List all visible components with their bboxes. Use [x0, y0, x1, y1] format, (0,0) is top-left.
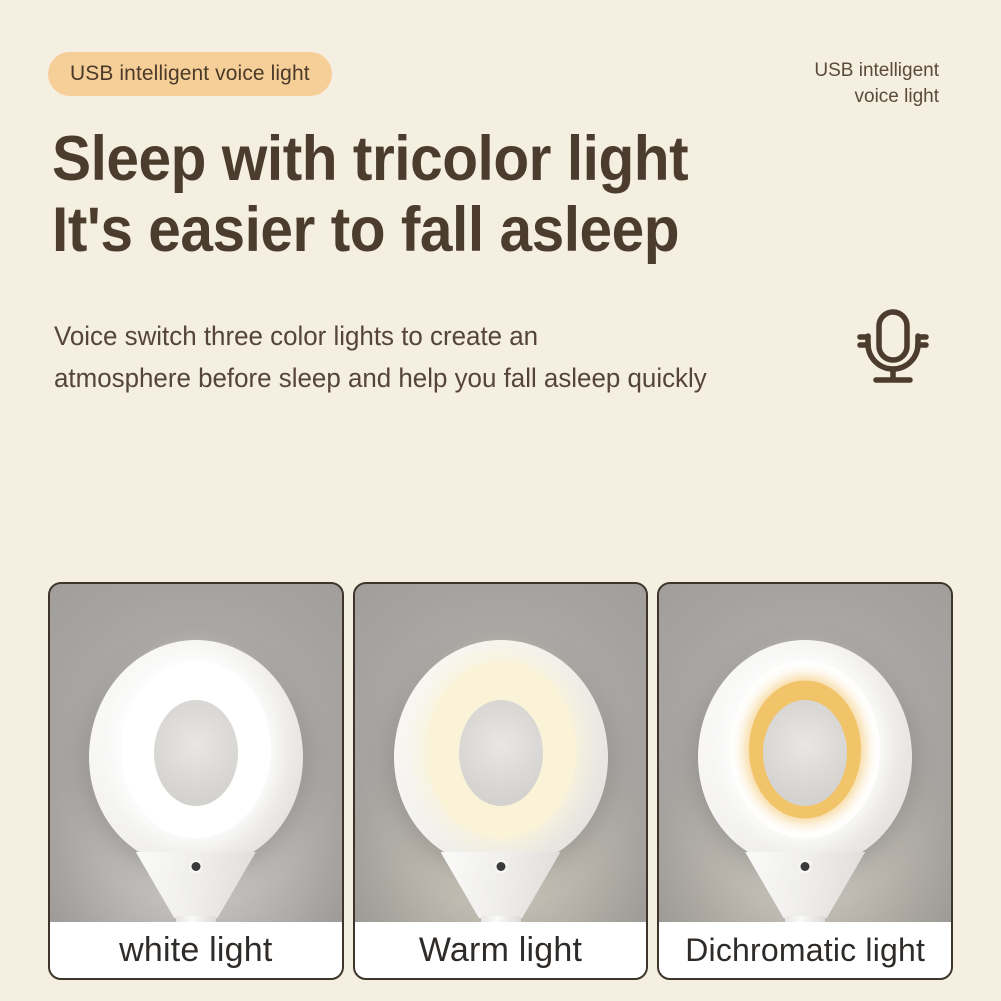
microphone-icon	[852, 306, 934, 390]
lamp-head	[698, 640, 912, 866]
lamp-neck	[441, 852, 561, 918]
description-line-1: Voice switch three color lights to creat…	[54, 316, 851, 358]
product-badge: USB intelligent voice light	[48, 52, 332, 96]
product-photo-warm-light	[355, 584, 647, 922]
description-line-2: atmosphere before sleep and help you fal…	[54, 358, 851, 400]
lamp-neck	[136, 852, 256, 918]
corner-brand-line-2: voice light	[814, 84, 939, 110]
headline-line-2: It's easier to fall asleep	[52, 195, 870, 266]
card-warm-light[interactable]: Warm light	[353, 582, 649, 980]
lamp-head	[394, 640, 608, 866]
product-badge-label: USB intelligent voice light	[70, 62, 310, 86]
product-variant-cards: white light Warm ligh	[48, 582, 953, 980]
lamp-neck	[745, 852, 865, 918]
lamp-ring-hole	[763, 700, 847, 806]
product-photo-white-light	[50, 584, 342, 922]
voice-sensor-dot	[801, 862, 810, 871]
card-caption-dichromatic-light: Dichromatic light	[659, 922, 951, 978]
card-caption-label: Dichromatic light	[685, 932, 925, 969]
lamp-head	[89, 640, 303, 866]
lamp-ring-hole	[459, 700, 543, 806]
card-caption-label: Warm light	[419, 931, 582, 970]
corner-brand-text: USB intelligent voice light	[814, 58, 939, 109]
voice-sensor-dot	[191, 862, 200, 871]
lamp-white-light	[89, 640, 303, 922]
card-caption-warm-light: Warm light	[355, 922, 647, 978]
voice-sensor-dot	[496, 862, 505, 871]
card-caption-label: white light	[119, 931, 272, 970]
card-white-light[interactable]: white light	[48, 582, 344, 980]
headline: Sleep with tricolor light It's easier to…	[52, 124, 932, 265]
description: Voice switch three color lights to creat…	[54, 316, 884, 400]
lamp-warm-light	[394, 640, 608, 922]
headline-line-1: Sleep with tricolor light	[52, 124, 870, 195]
product-photo-dichromatic-light	[659, 584, 951, 922]
lamp-ring-hole	[154, 700, 238, 806]
card-dichromatic-light[interactable]: Dichromatic light	[657, 582, 953, 980]
corner-brand-line-1: USB intelligent	[814, 58, 939, 84]
card-caption-white-light: white light	[50, 922, 342, 978]
product-banner: USB intelligent voice light USB intellig…	[0, 0, 1001, 1001]
lamp-dichromatic-light	[698, 640, 912, 922]
